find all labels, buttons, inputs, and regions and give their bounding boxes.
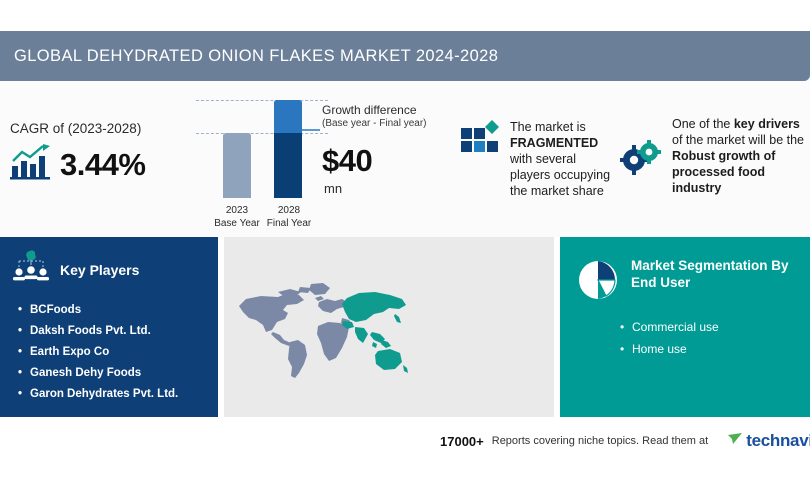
growth-difference-unit: mn	[324, 181, 342, 196]
technavio-logo[interactable]: technavi	[728, 431, 810, 451]
list-item: BCFoods	[30, 300, 218, 321]
market-fragmentation-text: The market is FRAGMENTED with several pl…	[510, 119, 610, 199]
page-title: GLOBAL DEHYDRATED ONION FLAKES MARKET 20…	[0, 47, 498, 66]
infographic-canvas: GLOBAL DEHYDRATED ONION FLAKES MARKET 20…	[0, 0, 810, 480]
bar-label-final-year: 2028 Final Year	[254, 204, 324, 230]
segmentation-list: Commercial use Home use	[560, 316, 810, 360]
segmentation-panel: Market Segmentation By End User Commerci…	[560, 237, 810, 417]
market-fragmentation-block: The market is FRAGMENTED with several pl…	[460, 119, 645, 199]
bar-final-year	[274, 100, 302, 198]
technavio-wordmark: technavi	[746, 431, 810, 451]
world-map-apac-highlight	[230, 255, 410, 410]
callout-arrow-icon	[294, 121, 320, 129]
network-people-icon	[12, 249, 52, 290]
list-item: Ganesh Dehy Foods	[30, 363, 218, 384]
key-players-title: Key Players	[60, 262, 139, 278]
segmentation-title: Market Segmentation By End User	[631, 257, 791, 291]
bar-base-year	[223, 133, 251, 198]
growth-difference-value: $40	[322, 143, 372, 179]
mid-band: Key Players BCFoods Daksh Foods Pvt. Ltd…	[0, 237, 810, 417]
region-map-panel: 32% of the growth will originate from AP…	[224, 237, 554, 417]
list-item: Daksh Foods Pvt. Ltd.	[30, 321, 218, 342]
growth-bar-chart-icon	[10, 144, 52, 185]
market-drivers-block: One of the key drivers of the market wil…	[620, 116, 810, 196]
key-players-panel: Key Players BCFoods Daksh Foods Pvt. Ltd…	[0, 237, 218, 417]
fragmented-squares-icon	[460, 119, 500, 166]
list-item: Garon Dehydrates Pvt. Ltd.	[30, 384, 218, 405]
cagr-block: CAGR of (2023-2028) 3.44%	[10, 121, 190, 185]
growth-difference-callout: Growth difference (Base year - Final yea…	[322, 103, 472, 130]
list-item: Commercial use	[632, 316, 810, 338]
gears-icon	[620, 116, 664, 187]
key-players-list: BCFoods Daksh Foods Pvt. Ltd. Earth Expo…	[0, 300, 218, 405]
cagr-value: 3.44%	[60, 147, 145, 183]
technavio-arrow-icon	[728, 432, 743, 451]
pie-chart-icon	[575, 257, 621, 308]
market-drivers-text: One of the key drivers of the market wil…	[672, 116, 804, 196]
header-bar: GLOBAL DEHYDRATED ONION FLAKES MARKET 20…	[0, 31, 810, 81]
growth-bar-chart: 2023 Base Year 2028 Final Year	[196, 100, 331, 230]
footer-caption: Reports covering niche topics. Read them…	[492, 435, 708, 447]
list-item: Earth Expo Co	[30, 342, 218, 363]
footer-bar: 17000+ Reports covering niche topics. Re…	[0, 417, 810, 480]
growth-difference-title: Growth difference	[322, 103, 472, 117]
cagr-label: CAGR of (2023-2028)	[10, 121, 190, 136]
growth-difference-subtitle: (Base year - Final year)	[322, 117, 472, 130]
top-stats-band: CAGR of (2023-2028) 3.44%	[0, 81, 810, 237]
list-item: Home use	[632, 338, 810, 360]
grid-line-top	[196, 100, 328, 101]
footer-report-count: 17000+	[440, 434, 484, 449]
